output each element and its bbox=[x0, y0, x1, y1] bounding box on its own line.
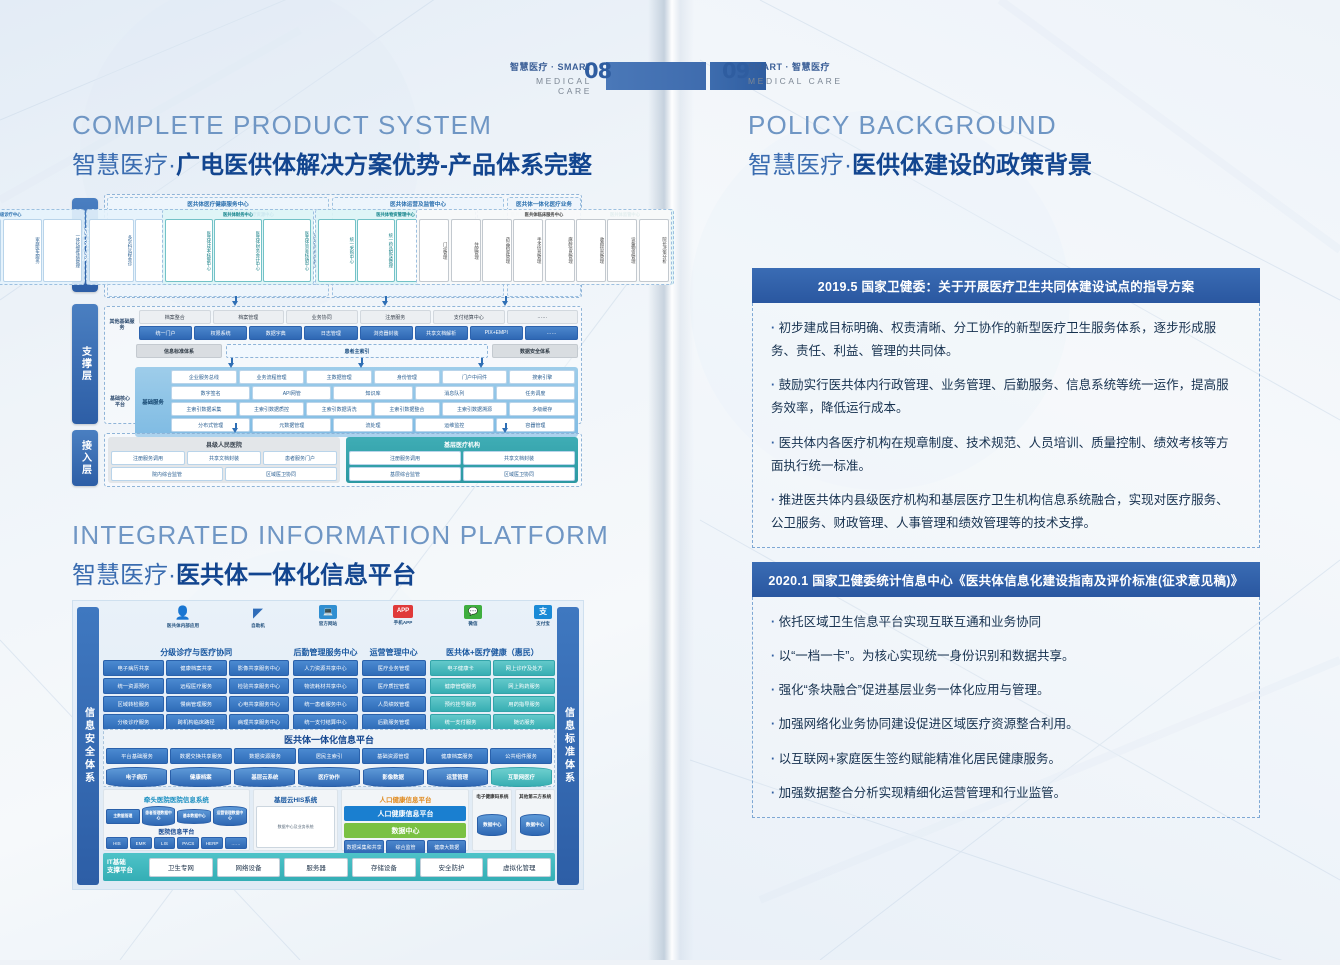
app-cell: 住院管理 bbox=[451, 219, 481, 282]
service-pill: 档案管理 bbox=[213, 310, 285, 324]
database-cylinder[interactable]: 基层云系统 bbox=[234, 767, 295, 787]
service-pill: 档案整合 bbox=[139, 310, 211, 324]
panel-tag[interactable]: 数据采集和共享 bbox=[344, 840, 383, 854]
section-cn-light-2: 智慧医疗· bbox=[72, 562, 176, 589]
service-cell[interactable]: 检验共享服务中心 bbox=[229, 678, 290, 694]
access-institution: 基层医疗机构注册服务调用共享文档封装基层综合监管区域医卫协同 bbox=[346, 437, 578, 483]
app-cell: 设备物资管理 bbox=[607, 219, 637, 282]
it-platform-item[interactable]: 虚拟化管理 bbox=[487, 858, 551, 877]
service-cell[interactable]: 统一支付结算中心 bbox=[293, 714, 357, 730]
icon-label: 医共体内部应用 bbox=[167, 623, 199, 629]
service-column-grid: 人力资源共享中心物流耗材共享中心统一患者服务中心统一支付结算中心 bbox=[293, 660, 357, 730]
service-pill: PIX+EMPI bbox=[470, 326, 523, 340]
access-pill: 注册服务调用 bbox=[111, 451, 185, 465]
database-cylinder[interactable]: 影像数据 bbox=[363, 767, 424, 787]
section-title-product-system: COMPLETE PRODUCT SYSTEM 智慧医疗·广电医供体解决方案优势… bbox=[72, 110, 592, 180]
service-cell[interactable]: 统一资源预约 bbox=[103, 678, 164, 694]
basic-service-pill: API网管 bbox=[252, 386, 331, 400]
basic-service-row: 企业服务总线业务流程管理主数据管理身份管理门户中间件搜索引擎 bbox=[171, 370, 575, 384]
panel-tag[interactable]: HIS bbox=[106, 837, 128, 849]
basic-service-pill: 多级缓存 bbox=[509, 402, 575, 416]
service-cell[interactable]: 人员绩效管理 bbox=[362, 696, 426, 712]
system-panel: 基层云HIS系统数据中心及业务系统 bbox=[253, 789, 339, 851]
it-platform-label: IT基础 支撑平台 bbox=[107, 859, 145, 875]
service-column-grid: 医疗业务管理医疗质控管理人员绩效管理后勤服务管理 bbox=[362, 660, 426, 730]
icon-wechat-icon[interactable]: 💬微信 bbox=[442, 605, 504, 627]
service-cell[interactable]: 跨机构临床路径 bbox=[166, 714, 227, 730]
icon-self-service-kiosk-icon[interactable]: ◤自助机 bbox=[227, 605, 289, 629]
icon-website-icon[interactable]: 💻官方网站 bbox=[297, 605, 359, 627]
app-cell: 统一采购中心 bbox=[318, 219, 355, 282]
app-subgroup-title: 医共体临床服务中心 bbox=[417, 210, 670, 219]
access-pill: 共享文档封装 bbox=[463, 451, 575, 465]
section-cn-title: 智慧医疗·广电医供体解决方案优势-产品体系完整 bbox=[72, 145, 592, 180]
security-box: 数据安全体系 bbox=[492, 344, 578, 358]
it-infrastructure-platform: IT基础 支撑平台卫生专网网络设备服务器存储设备安全防护虚拟化管理 bbox=[103, 853, 555, 881]
policy-card-2020: 2020.1 国家卫健委统计信息中心《医共体信息化建设指南及评价标准(征求意见稿… bbox=[752, 562, 1260, 818]
user-icon: 👤 bbox=[175, 605, 191, 621]
system-panel: 电子健康码系统数据中心 bbox=[472, 789, 512, 851]
basic-service-pill: 运维监控 bbox=[415, 418, 494, 432]
basic-service-pill: 流处理 bbox=[333, 418, 412, 432]
header-right-text: SMART · 智慧医疗 MEDICAL CARE bbox=[748, 60, 928, 86]
section-en-title: COMPLETE PRODUCT SYSTEM bbox=[72, 110, 592, 141]
app-group-title: 医共体运营及监管中心 bbox=[333, 198, 503, 209]
it-platform-item[interactable]: 网络设备 bbox=[217, 858, 281, 877]
service-cell[interactable]: 网上购药服务 bbox=[493, 678, 555, 694]
service-cell[interactable]: 预约挂号服务 bbox=[430, 696, 492, 712]
app-cell: 医共体资金核销中心 bbox=[263, 219, 311, 282]
policy-bullet: 以“一档一卡”。为核心实现统一身份识别和数据共享。 bbox=[771, 645, 1241, 668]
service-cell[interactable]: 医疗业务管理 bbox=[362, 660, 426, 676]
basic-service-row: 主索引数据采集主索引数据质控主索引数据清洗主索引数据整合主索引数据溯源多级缓存 bbox=[171, 402, 575, 416]
panel-tag[interactable]: …… bbox=[225, 837, 247, 849]
platform-service-cell[interactable]: 公共组件服务 bbox=[490, 748, 552, 764]
basic-service-pill: 主索引数据质控 bbox=[239, 402, 305, 416]
service-cell[interactable]: 分级诊疗服务 bbox=[103, 714, 164, 730]
system-panel: 牵头医院医院信息系统主数据管理患者管理数据中心基本数据中心运营管理数据中心医院信… bbox=[103, 789, 250, 851]
system-panel: 其他第三方系统数据中心 bbox=[515, 789, 555, 851]
basic-service-pill: 元数据管理 bbox=[252, 418, 331, 432]
support-layer-box: 其他基础服务档案整合档案管理业务协同注册服务支付结算中心……统一门户权限系统数据… bbox=[104, 306, 582, 424]
alipay-icon: 支 bbox=[534, 605, 552, 619]
app-cell: 统一药品配送管理 bbox=[357, 219, 394, 282]
service-column-grid: 电子健康卡网上诊疗及处方健康管理服务网上购药服务预约挂号服务用药指导服务统一支付… bbox=[430, 660, 555, 730]
icon-label: 自助机 bbox=[251, 623, 265, 629]
policy-card-2019: 2019.5 国家卫健委：关于开展医疗卫生共同体建设试点的指导方案 初步建成目标… bbox=[752, 268, 1260, 548]
basic-service-pill: 搜索引擎 bbox=[509, 370, 575, 384]
panel-tag[interactable]: 综合监管 bbox=[386, 840, 425, 854]
arrow-down-icon bbox=[358, 358, 365, 369]
app-cell: 一体化慢性病管理 bbox=[43, 219, 82, 282]
patient-index-box: 患者主索引 bbox=[226, 344, 488, 358]
header-left-text: 智慧医疗 · SMART MEDICAL CARE bbox=[500, 60, 592, 96]
header-right-en: MEDICAL CARE bbox=[748, 76, 928, 86]
policy-card-title-2: 2020.1 国家卫健委统计信息中心《医共体信息化建设指南及评价标准(征求意见稿… bbox=[752, 562, 1260, 597]
app-group-title: 医共体一体化医疗业务 bbox=[508, 198, 580, 209]
access-row: 注册服务调用共享文档封装 bbox=[349, 451, 575, 465]
service-cell[interactable]: 统一患者服务中心 bbox=[293, 696, 357, 712]
policy-bullet: 医共体内各医疗机构在规章制度、技术规范、人员培训、质量控制、绩效考核等方面执行统… bbox=[771, 432, 1241, 478]
integrated-platform-diagram: 信息安全体系 信息标准体系 👤医共体内部应用◤自助机💻官方网站APP手机APP💬… bbox=[72, 600, 584, 890]
service-cell[interactable]: 人力资源共享中心 bbox=[293, 660, 357, 676]
basic-service-pill: 主索引数据清洗 bbox=[306, 402, 372, 416]
policy-bullet: 依托区域卫生信息平台实现互联互通和业务协同 bbox=[771, 611, 1241, 634]
access-institution-title: 基层医疗机构 bbox=[349, 440, 575, 449]
panels-wrap: 牵头医院医院信息系统主数据管理患者管理数据中心基本数据中心运营管理数据中心医院信… bbox=[103, 789, 555, 851]
service-column: 后勤管理服务中心人力资源共享中心物流耗材共享中心统一患者服务中心统一支付结算中心 bbox=[293, 645, 357, 727]
service-pill: 日志管理 bbox=[304, 326, 357, 340]
policy-cn-bold: 医供体建设的政策背景 bbox=[852, 152, 1092, 179]
service-column: 分级诊疗与医疗协同电子病历共享健康档案共享影像共享服务中心统一资源预约远程医疗服… bbox=[103, 645, 289, 727]
policy-bullet: 加强数据整合分析实现精细化运营管理和行业监管。 bbox=[771, 782, 1241, 805]
app-group-title: 医共体医疗健康服务中心 bbox=[108, 198, 328, 209]
icon-alipay-icon[interactable]: 支支付宝 bbox=[512, 605, 574, 627]
service-column-title: 分级诊疗与医疗协同 bbox=[103, 645, 289, 660]
service-column-title: 后勤管理服务中心 bbox=[293, 645, 357, 660]
access-layer-box: 县级人民医院注册服务调用共享文档封装患者服务门户院内综合监管区域医卫协同基层医疗… bbox=[104, 433, 582, 487]
basic-rows: 档案整合档案管理业务协同注册服务支付结算中心……统一门户权限系统数据字典日志管理… bbox=[139, 310, 578, 340]
app-subgroups: 医共体临床服务中心门诊管理住院管理药品药库管理手术信息管理麻醉信息管理收费信息管… bbox=[508, 209, 580, 287]
panel-cylinder[interactable]: 主数据管理 bbox=[106, 809, 140, 824]
panel-bar[interactable]: 数据中心 bbox=[344, 823, 466, 838]
wechat-icon: 💬 bbox=[464, 605, 482, 619]
system-panel-title: 基层云HIS系统 bbox=[256, 792, 336, 806]
app-cell: 药品药库管理 bbox=[482, 219, 512, 282]
service-column-title: 医共体+医疗健康（惠民） bbox=[430, 645, 555, 660]
app-cell: 医共体财务会计中心 bbox=[214, 219, 262, 282]
panel-tags: 数据采集和共享综合监管健康大数据 bbox=[344, 840, 466, 854]
basic-service-pill: 消息队列 bbox=[415, 386, 494, 400]
platform-databases: 电子病历健康档案基层云系统医疗协作影像数据运营管理互联网医疗 bbox=[106, 767, 552, 787]
sidebar-information-standard: 信息标准体系 bbox=[557, 607, 579, 885]
app-subgroup: 医共体财务中心医共体成本核算中心医共体财务会计中心医共体资金核销中心 bbox=[162, 209, 314, 285]
access-pill: 基层综合监管 bbox=[349, 467, 461, 481]
panel-tag[interactable]: 健康大数据 bbox=[427, 840, 466, 854]
page-number-right: 09 bbox=[722, 59, 749, 83]
service-cell[interactable]: 网上诊疗及处方 bbox=[493, 660, 555, 676]
standard-box: 信息标准体系 bbox=[136, 344, 222, 358]
platform-title: 医共体一体化信息平台 bbox=[106, 732, 552, 748]
service-column-grid: 电子病历共享健康档案共享影像共享服务中心统一资源预约远程医疗服务检验共享服务中心… bbox=[103, 660, 289, 730]
app-cell: 家庭医生服务 bbox=[3, 219, 42, 282]
service-pill: 共享文档解析 bbox=[415, 326, 468, 340]
access-row: 注册服务调用共享文档封装患者服务门户 bbox=[111, 451, 337, 465]
system-panel-title: 其他第三方系统 bbox=[518, 792, 552, 802]
basic-service-pill: 主数据管理 bbox=[306, 370, 372, 384]
app-cell: 门诊管理 bbox=[419, 219, 449, 282]
database-cylinder[interactable]: 健康档案 bbox=[170, 767, 231, 787]
service-cell[interactable]: 病理共享服务中心 bbox=[229, 714, 290, 730]
platform-box: 医共体一体化信息平台平台基础服务数据交换共享服务数据资源服务居民主索引基础资源管… bbox=[103, 729, 555, 787]
service-cell[interactable]: 随访服务 bbox=[493, 714, 555, 730]
header-right-cn: SMART · 智慧医疗 bbox=[748, 60, 928, 73]
panel-subtitle: 医院信息平台 bbox=[106, 827, 247, 836]
basic-service-pill: 身份管理 bbox=[374, 370, 440, 384]
panel-tag[interactable]: PACS bbox=[177, 837, 199, 849]
access-institution: 县级人民医院注册服务调用共享文档封装患者服务门户院内综合监管区域医卫协同 bbox=[108, 437, 340, 483]
policy-bullet: 初步建成目标明确、权责清晰、分工协作的新型医疗卫生服务体系，逐步形成服务、责任、… bbox=[771, 317, 1241, 363]
access-pill: 区域医卫协同 bbox=[225, 467, 337, 481]
section-cn-light: 智慧医疗· bbox=[72, 152, 176, 179]
service-cell[interactable]: 心电共享服务中心 bbox=[229, 696, 290, 712]
service-pill: 权限系统 bbox=[194, 326, 247, 340]
support-layer: 其他基础服务档案整合档案管理业务协同注册服务支付结算中心……统一门户权限系统数据… bbox=[104, 306, 582, 424]
system-panel-title: 人口健康信息平台 bbox=[344, 792, 466, 806]
service-cell[interactable]: 用药指导服务 bbox=[493, 696, 555, 712]
mobile-app-icon: APP bbox=[393, 605, 413, 618]
basic-service-pill: 数字签名 bbox=[171, 386, 250, 400]
page-number-left: 08 bbox=[584, 59, 611, 83]
basic-service-pill: 企业服务总线 bbox=[171, 370, 237, 384]
icon-label: 微信 bbox=[468, 621, 477, 627]
policy-card-body: 初步建成目标明确、权责清晰、分工协作的新型医疗卫生服务体系，逐步形成服务、责任、… bbox=[752, 303, 1260, 548]
service-pill: 业务协同 bbox=[286, 310, 358, 324]
system-panels: 牵头医院医院信息系统主数据管理患者管理数据中心基本数据中心运营管理数据中心医院信… bbox=[103, 789, 555, 851]
database-cylinder[interactable]: 互联网医疗 bbox=[491, 767, 552, 787]
service-pill: …… bbox=[507, 310, 579, 324]
panel-bar[interactable]: 人口健康信息平台 bbox=[344, 806, 466, 821]
service-column: 运营管理中心医疗业务管理医疗质控管理人员绩效管理后勤服务管理 bbox=[362, 645, 426, 727]
it-platform-item[interactable]: 安全防护 bbox=[420, 858, 484, 877]
self-service-kiosk-icon: ◤ bbox=[251, 605, 265, 621]
service-pill: 数据字典 bbox=[249, 326, 302, 340]
access-institution-title: 县级人民医院 bbox=[111, 440, 337, 449]
basic-service-pill: 知识库 bbox=[333, 386, 412, 400]
access-pill: 共享文档封装 bbox=[187, 451, 261, 465]
platform-service-cell[interactable]: 健康档案服务 bbox=[426, 748, 488, 764]
service-pill: 浏览器封装 bbox=[360, 326, 413, 340]
page-gutter bbox=[648, 0, 694, 960]
app-cell: 院长决策分析 bbox=[639, 219, 669, 282]
it-platform-item[interactable]: 服务器 bbox=[284, 858, 348, 877]
app-subgroup: 医共体临床服务中心门诊管理住院管理药品药库管理手术信息管理麻醉信息管理收费信息管… bbox=[416, 209, 671, 285]
basic-service-pill: 主索引数据整合 bbox=[374, 402, 440, 416]
access-row: 基层综合监管区域医卫协同 bbox=[349, 467, 575, 481]
sidebar-information-security: 信息安全体系 bbox=[77, 607, 99, 885]
section-en-title-2: INTEGRATED INFORMATION PLATFORM bbox=[72, 520, 609, 551]
access-layer: 县级人民医院注册服务调用共享文档封装患者服务门户院内综合监管区域医卫协同基层医疗… bbox=[104, 433, 582, 487]
arrow-row bbox=[108, 358, 578, 367]
icon-label: 官方网站 bbox=[319, 621, 337, 627]
basic-service-row: 数字签名API网管知识库消息队列任务调度 bbox=[171, 386, 575, 400]
header-left-cn: 智慧医疗 · SMART bbox=[500, 60, 592, 73]
platform-service-cell[interactable]: 基础资源管理 bbox=[362, 748, 424, 764]
platform-service-cell[interactable]: 数据交换共享服务 bbox=[170, 748, 232, 764]
panel-tags: HISEMRLISPACSHERP…… bbox=[106, 837, 247, 849]
basic-service-pill: 门户中间件 bbox=[442, 370, 508, 384]
service-cell[interactable]: 物流耗材共享中心 bbox=[293, 678, 357, 694]
platform-service-cell[interactable]: 平台基础服务 bbox=[106, 748, 168, 764]
app-group: 医共体一体化医疗业务医共体临床服务中心门诊管理住院管理药品药库管理手术信息管理麻… bbox=[507, 197, 581, 297]
section-cn-title-2: 智慧医疗·医共体一体化信息平台 bbox=[72, 555, 609, 590]
access-pill: 区域医卫协同 bbox=[463, 467, 575, 481]
app-cell: 双向转诊服务 bbox=[0, 219, 1, 282]
core-platform-label: 基础核心平台 bbox=[108, 367, 132, 437]
basic-services-box: 基础服务企业服务总线业务流程管理主数据管理身份管理门户中间件搜索引擎数字签名AP… bbox=[135, 367, 578, 437]
policy-en-title: POLICY BACKGROUND bbox=[748, 110, 1092, 141]
service-column: 医共体+医疗健康（惠民）电子健康卡网上诊疗及处方健康管理服务网上购药服务预约挂号… bbox=[430, 645, 555, 727]
access-pill: 患者服务门户 bbox=[263, 451, 337, 465]
basic-services-label: 基础服务 bbox=[138, 370, 168, 434]
app-cell: 手术信息管理 bbox=[513, 219, 543, 282]
panel-cylinder[interactable]: 患者管理数据中心 bbox=[142, 806, 176, 826]
app-subgroup-title: 医共体财务中心 bbox=[163, 210, 313, 219]
service-cell[interactable]: 统一支付服务 bbox=[430, 714, 492, 730]
platform-services: 平台基础服务数据交换共享服务数据资源服务居民主索引基础资源管理健康档案服务公共组… bbox=[106, 748, 552, 764]
database-cylinder[interactable]: 运营管理 bbox=[427, 767, 488, 787]
app-cells: 医疗服务资源池预约双向转诊服务家庭医生服务一体化慢性病管理 bbox=[0, 219, 84, 284]
section-cn-bold-2: 医共体一体化信息平台 bbox=[176, 562, 416, 589]
other-basic-label: 其他基础服务 bbox=[108, 319, 136, 331]
arrow-down-icon bbox=[228, 358, 235, 369]
basic-service-pill: 主索引数据采集 bbox=[171, 402, 237, 416]
icon-label: 手机APP bbox=[394, 620, 413, 626]
section-cn-bold: 广电医供体解决方案优势-产品体系完整 bbox=[176, 152, 592, 179]
access-pill: 院内综合监管 bbox=[111, 467, 223, 481]
system-panel: 人口健康信息平台人口健康信息平台数据中心数据采集和共享综合监管健康大数据 bbox=[341, 789, 469, 851]
app-subgroup: 医共体分级诊疗中心医疗服务资源池预约双向转诊服务家庭医生服务一体化慢性病管理 bbox=[0, 209, 85, 285]
policy-bullet: 加强网络化业务协同建设促进区域医疗资源整合利用。 bbox=[771, 713, 1241, 736]
policy-cn-light: 智慧医疗· bbox=[748, 152, 852, 179]
basic-service-pill: 任务调度 bbox=[496, 386, 575, 400]
access-row: 院内综合监管区域医卫协同 bbox=[111, 467, 337, 481]
service-cell[interactable]: 区域转检服务 bbox=[103, 696, 164, 712]
database-cylinder[interactable]: 电子病历 bbox=[106, 767, 167, 787]
panel-cylinder[interactable]: 数据中心 bbox=[477, 814, 507, 836]
layer-label-access: 接入层 bbox=[72, 430, 98, 486]
icon-label: 支付宝 bbox=[536, 621, 550, 627]
panel-cylinder[interactable]: 运营管理数据中心 bbox=[213, 806, 247, 826]
access-channel-icons: 👤医共体内部应用◤自助机💻官方网站APP手机APP💬微信支支付宝 bbox=[103, 603, 555, 643]
policy-bullet: 以互联网+家庭医生签约赋能精准化居民健康服务。 bbox=[771, 748, 1241, 771]
service-pill: 支付结算中心 bbox=[433, 310, 505, 324]
panel-cylinder[interactable]: 基本数据中心 bbox=[177, 809, 211, 824]
panel-tag[interactable]: EMR bbox=[130, 837, 152, 849]
panel-cylinders: 主数据管理患者管理数据中心基本数据中心运营管理数据中心 bbox=[106, 806, 247, 826]
app-cells: 门诊管理住院管理药品药库管理手术信息管理麻醉信息管理收费信息管理设备物资管理院长… bbox=[417, 219, 670, 284]
service-cell[interactable]: 电子病历共享 bbox=[103, 660, 164, 676]
service-pill: 统一门户 bbox=[139, 326, 192, 340]
policy-card-body-2: 依托区域卫生信息平台实现互联互通和业务协同以“一档一卡”。为核心实现统一身份识别… bbox=[752, 597, 1260, 818]
service-cell[interactable]: 医疗质控管理 bbox=[362, 678, 426, 694]
platform-service-cell[interactable]: 数据资源服务 bbox=[234, 748, 296, 764]
section-title-policy: POLICY BACKGROUND 智慧医疗·医供体建设的政策背景 bbox=[748, 110, 1092, 180]
app-cells: 医共体成本核算中心医共体财务会计中心医共体资金核销中心 bbox=[163, 219, 313, 284]
it-platform-bar: IT基础 支撑平台卫生专网网络设备服务器存储设备安全防护虚拟化管理 bbox=[103, 853, 555, 881]
app-cell: 麻醉信息管理 bbox=[545, 219, 575, 282]
icon-user-icon[interactable]: 👤医共体内部应用 bbox=[152, 605, 214, 629]
header-block-left bbox=[606, 62, 706, 90]
application-layer-box: 医共体医疗健康服务中心医共体分级诊疗中心医疗服务资源池预约双向转诊服务家庭医生服… bbox=[104, 194, 582, 298]
other-basic-services: 其他基础服务档案整合档案管理业务协同注册服务支付结算中心……统一门户权限系统数据… bbox=[108, 310, 578, 340]
system-panel-title: 牵头医院医院信息系统 bbox=[106, 792, 247, 806]
policy-bullet: 推进医共体内县级医疗机构和基层医疗卫生机构信息系统融合，实现对医疗服务、公卫服务… bbox=[771, 489, 1241, 535]
application-layer: 医共体医疗健康服务中心医共体分级诊疗中心医疗服务资源池预约双向转诊服务家庭医生服… bbox=[104, 194, 582, 298]
brochure-spread: 智慧医疗 · SMART MEDICAL CARE 08 09 SMART · … bbox=[0, 0, 1340, 960]
database-cylinder[interactable]: 医疗协作 bbox=[298, 767, 359, 787]
it-platform-item[interactable]: 卫生专网 bbox=[149, 858, 213, 877]
service-cell[interactable]: 后勤服务管理 bbox=[362, 714, 426, 730]
service-pill: 注册服务 bbox=[360, 310, 432, 324]
page-header-bar: 智慧医疗 · SMART MEDICAL CARE 08 09 SMART · … bbox=[0, 28, 1340, 72]
service-cell[interactable]: 健康档案共享 bbox=[166, 660, 227, 676]
it-platform-item[interactable]: 存储设备 bbox=[352, 858, 416, 877]
arrow-down-icon bbox=[478, 358, 485, 369]
service-cell[interactable]: 远程医疗服务 bbox=[166, 678, 227, 694]
panel-tag[interactable]: HERP bbox=[201, 837, 223, 849]
basic-service-pill: 主索引数据溯源 bbox=[442, 402, 508, 416]
service-column-title: 运营管理中心 bbox=[362, 645, 426, 660]
standards-row: 信息标准体系患者主索引数据安全体系 bbox=[108, 344, 578, 358]
panel-note: 数据中心及业务系统 bbox=[256, 806, 336, 848]
layer-label-support: 支撑层 bbox=[72, 304, 98, 424]
grey-row: 档案整合档案管理业务协同注册服务支付结算中心…… bbox=[139, 310, 578, 324]
header-left-en: MEDICAL CARE bbox=[500, 76, 592, 96]
app-cell: 医共体成本核算中心 bbox=[165, 219, 213, 282]
section-title-info-platform: INTEGRATED INFORMATION PLATFORM 智慧医疗·医共体… bbox=[72, 520, 609, 590]
service-cell[interactable]: 影像共享服务中心 bbox=[229, 660, 290, 676]
service-cell[interactable]: 慢病管理服务 bbox=[166, 696, 227, 712]
platform-core: 医共体一体化信息平台平台基础服务数据交换共享服务数据资源服务居民主索引基础资源管… bbox=[103, 729, 555, 787]
panel-tag[interactable]: LIS bbox=[154, 837, 176, 849]
service-columns-wrap: 分级诊疗与医疗协同电子病历共享健康档案共享影像共享服务中心统一资源预约远程医疗服… bbox=[103, 645, 555, 727]
app-subgroup-title: 医共体分级诊疗中心 bbox=[0, 210, 84, 219]
policy-cn-title: 智慧医疗·医供体建设的政策背景 bbox=[748, 145, 1092, 180]
policy-card-title: 2019.5 国家卫健委：关于开展医疗卫生共同体建设试点的指导方案 bbox=[752, 268, 1260, 303]
service-cell[interactable]: 电子健康卡 bbox=[430, 660, 492, 676]
icon-mobile-app-icon[interactable]: APP手机APP bbox=[372, 605, 434, 626]
blue-row: 统一门户权限系统数据字典日志管理浏览器封装共享文档解析PIX+EMPI…… bbox=[139, 326, 578, 340]
basic-service-pill: 业务流程管理 bbox=[239, 370, 305, 384]
website-icon: 💻 bbox=[319, 605, 337, 619]
service-cell[interactable]: 健康管理服务 bbox=[430, 678, 492, 694]
panel-cylinder[interactable]: 数据中心 bbox=[520, 814, 550, 836]
policy-bullet: 鼓励实行医共体内行政管理、业务管理、后勤服务、信息系统等统一运作，提高服务效率，… bbox=[771, 374, 1241, 420]
product-system-architecture-diagram: 应用层 支撑层 接入层 医共体医疗健康服务中心医共体分级诊疗中心医疗服务资源池预… bbox=[72, 190, 582, 490]
app-cell: 收费信息管理 bbox=[576, 219, 606, 282]
system-panel-title: 电子健康码系统 bbox=[475, 792, 509, 802]
app-cell: 多学科远程会诊 bbox=[89, 219, 134, 282]
service-columns: 分级诊疗与医疗协同电子病历共享健康档案共享影像共享服务中心统一资源预约远程医疗服… bbox=[103, 645, 555, 727]
service-pill: …… bbox=[525, 326, 578, 340]
access-pill: 注册服务调用 bbox=[349, 451, 461, 465]
policy-bullet: 强化“条块融合”促进基层业务一体化应用与管理。 bbox=[771, 679, 1241, 702]
platform-service-cell[interactable]: 居民主索引 bbox=[298, 748, 360, 764]
